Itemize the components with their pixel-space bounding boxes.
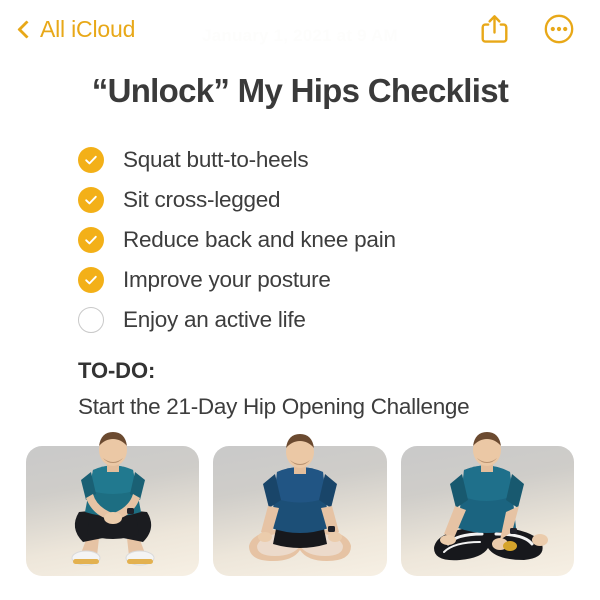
navbar-actions: [481, 14, 574, 44]
list-item-label: Sit cross-legged: [123, 187, 280, 213]
cross-legged-photo[interactable]: [213, 446, 386, 576]
list-item-label: Reduce back and knee pain: [123, 227, 396, 253]
checklist: Squat butt-to-heels Sit cross-legged Red…: [0, 140, 600, 340]
checkbox-checked-icon[interactable]: [78, 147, 104, 173]
checkbox-checked-icon[interactable]: [78, 267, 104, 293]
person-squatting-icon: [53, 428, 173, 568]
checkbox-checked-icon[interactable]: [78, 227, 104, 253]
list-item-label: Enjoy an active life: [123, 307, 306, 333]
person-straddle-stretch-icon: [420, 428, 554, 568]
checkmark-icon: [84, 233, 98, 247]
list-item[interactable]: Enjoy an active life: [78, 300, 600, 340]
more-options-button[interactable]: [544, 14, 574, 44]
straddle-stretch-photo[interactable]: [401, 446, 574, 576]
list-item[interactable]: Improve your posture: [78, 260, 600, 300]
checkmark-icon: [84, 273, 98, 287]
straddle-stretch-figure: [420, 428, 554, 568]
checkmark-icon: [84, 193, 98, 207]
list-item[interactable]: Squat butt-to-heels: [78, 140, 600, 180]
page-title: “Unlock” My Hips Checklist: [0, 72, 600, 110]
checkmark-icon: [84, 153, 98, 167]
checkbox-unchecked-icon[interactable]: [78, 307, 104, 333]
back-button-label: All iCloud: [40, 16, 135, 43]
list-item-label: Squat butt-to-heels: [123, 147, 308, 173]
checkbox-checked-icon[interactable]: [78, 187, 104, 213]
list-item-label: Improve your posture: [123, 267, 331, 293]
deep-squat-figure: [53, 428, 173, 568]
cross-legged-figure: [235, 428, 365, 568]
deep-squat-photo[interactable]: [26, 446, 199, 576]
more-ellipsis-icon: [544, 14, 574, 44]
attachment-thumbnails: [0, 446, 600, 576]
share-icon: [481, 14, 508, 44]
list-item[interactable]: Reduce back and knee pain: [78, 220, 600, 260]
todo-text[interactable]: Start the 21-Day Hip Opening Challenge: [78, 394, 600, 420]
chevron-left-icon: [17, 20, 35, 38]
todo-section: TO-DO: Start the 21-Day Hip Opening Chal…: [0, 358, 600, 420]
navigation-bar: January 1, 2021 at 9 AM All iCloud: [0, 0, 600, 58]
person-sitting-cross-legged-icon: [235, 428, 365, 568]
back-button[interactable]: All iCloud: [20, 16, 135, 43]
todo-heading: TO-DO:: [78, 358, 600, 384]
list-item[interactable]: Sit cross-legged: [78, 180, 600, 220]
share-button[interactable]: [481, 14, 508, 44]
